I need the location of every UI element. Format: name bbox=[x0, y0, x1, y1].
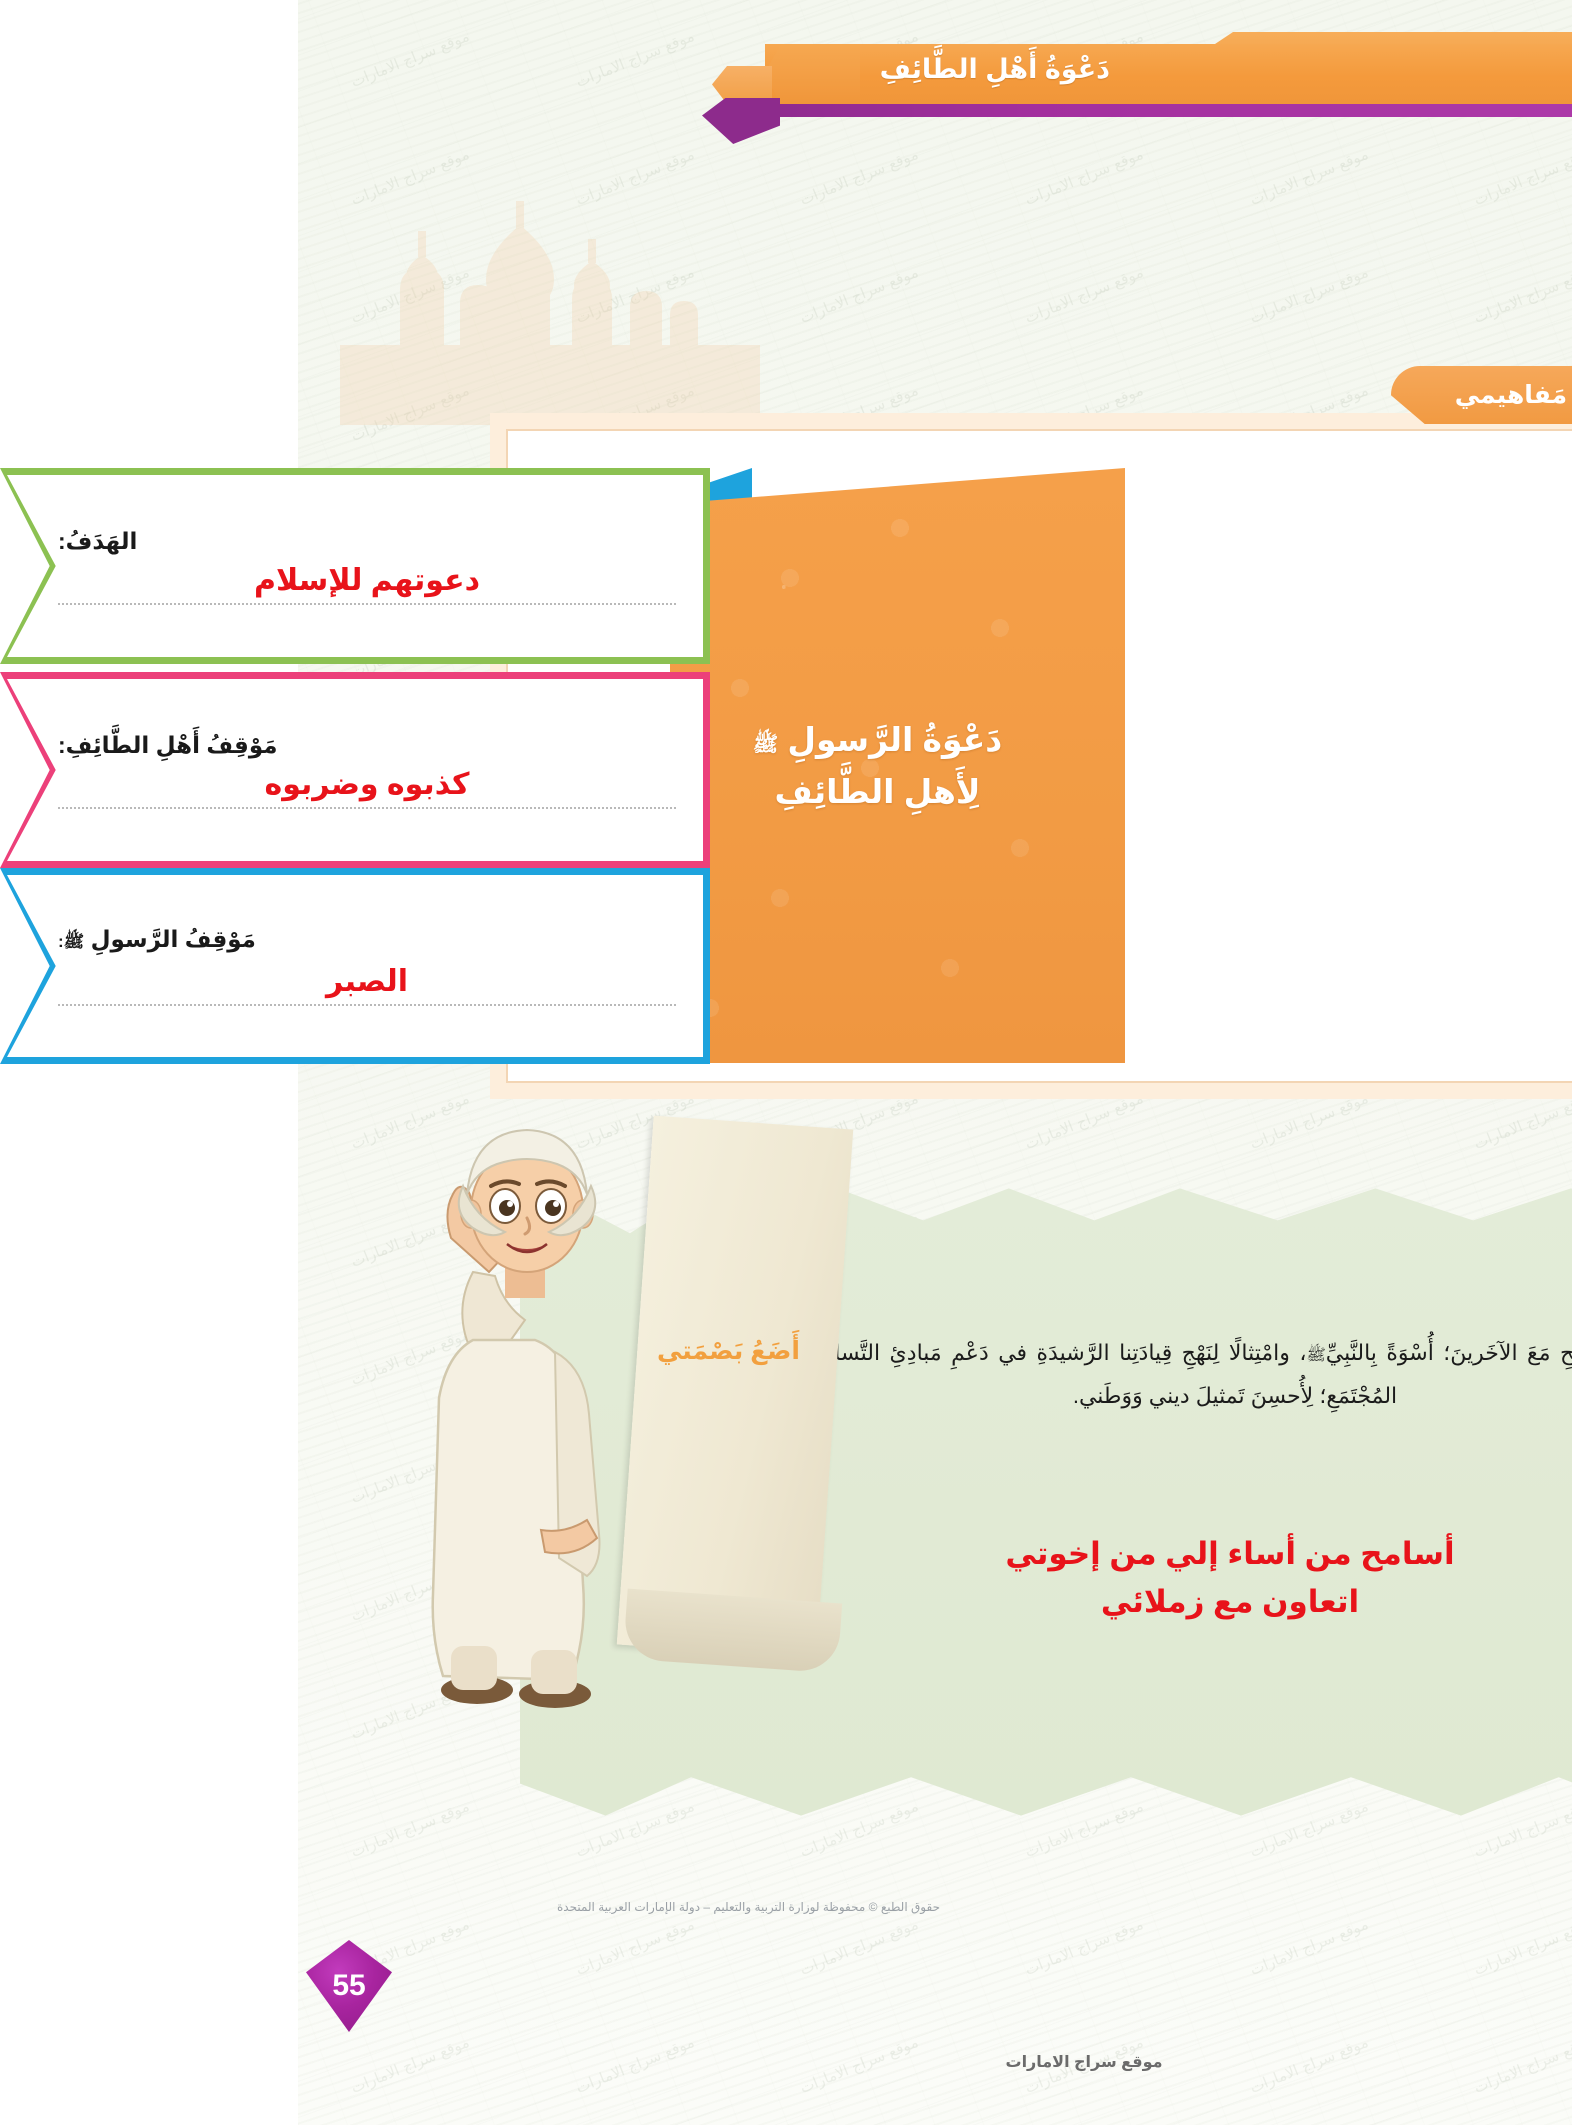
copyright-notice: حقوق الطبع © محفوظة لوزارة التربية والتع… bbox=[259, 1900, 642, 1914]
chevron-content: مَوْقِفُ الرَّسولِ ﷺ: الصبر bbox=[0, 875, 378, 1057]
watermark-text: موقع سراج الامارات bbox=[1173, 145, 1297, 209]
watermark-text: موقع سراج الامارات bbox=[50, 1797, 174, 1861]
banner-underline-shape bbox=[465, 104, 1572, 117]
sallallahu-alayhi-wasallam-icon: ﷺ bbox=[455, 733, 480, 756]
sallallahu-alayhi-wasallam-icon: ﷺ bbox=[1008, 1347, 1027, 1364]
reflection-paragraph-part1: أَتَحَلَّى بِالتَّسامُحِ مَعَ الآخَرينَ؛… bbox=[1028, 1340, 1402, 1365]
concept-row-prophet-stance[interactable]: مَوْقِفُ الرَّسولِ ﷺ: الصبر bbox=[0, 868, 412, 1064]
banner-tail-purple-shape bbox=[404, 98, 482, 144]
boy-character-illustration bbox=[57, 1090, 387, 1730]
concept-row-goal[interactable]: الهَدَفُ: دعوتهم للإسلام bbox=[0, 468, 412, 664]
chevron-content: الهَدَفُ: دعوتهم للإسلام bbox=[0, 475, 378, 657]
pyramid-title-line1: دَعْوَةُ الرَّسولِ bbox=[489, 721, 704, 758]
tab-organize-concepts[interactable]: أُنَظِّمُ مَفاهيمي bbox=[1093, 366, 1376, 424]
watermark-text: موقع سراج الامارات bbox=[1398, 145, 1522, 209]
chevron-answer-field[interactable]: دعوتهم للإسلام bbox=[0, 563, 378, 605]
reflection-paragraph-part2: ، وامْتِثالًا لِنَهْجِ قِيادَتِنا الرَّش… bbox=[472, 1340, 1099, 1408]
page-title: دَعْوَةُ أَهْلِ الطَّائِفِ bbox=[582, 54, 812, 85]
page-header-banner: دَعْوَةُ أَهْلِ الطَّائِفِ bbox=[0, 14, 1572, 139]
site-credit: موقع سراج الامارات bbox=[0, 2052, 1572, 2072]
reflection-paragraph: أَتَحَلَّى بِالتَّسامُحِ مَعَ الآخَرينَ؛… bbox=[472, 1332, 1402, 1418]
watermark-text: موقع سراج الامارات bbox=[724, 1915, 848, 1979]
watermark-text: موقع سراج الامارات bbox=[1398, 263, 1522, 327]
watermark-text: موقع سراج الامارات bbox=[1173, 263, 1297, 327]
pyramid-title-line2: لِأَهلِ الطَّائِفِ bbox=[476, 773, 682, 810]
watermark-text: موقع سراج الامارات bbox=[724, 263, 848, 327]
chevron-answer-field[interactable]: كذبوه وضربوه bbox=[0, 767, 378, 809]
pyramid-shape: دَعْوَةُ الرَّسولِ ﷺ لِأَهلِ الطَّائِفِ bbox=[372, 468, 827, 1063]
watermark-text: موقع سراج الامارات bbox=[949, 145, 1073, 209]
watermark-text: موقع سراج الامارات bbox=[275, 1915, 399, 1979]
watermark-text: موقع سراج الامارات bbox=[1173, 1915, 1297, 1979]
watermark-text: موقع سراج الامارات bbox=[500, 263, 624, 327]
watermark-text: موقع سراج الامارات bbox=[500, 145, 624, 209]
watermark-text: موقع سراج الامارات bbox=[724, 145, 848, 209]
chevron-content: مَوْقِفُ أَهْلِ الطَّائِفِ: كذبوه وضربوه bbox=[0, 679, 378, 861]
reflection-answer-line[interactable]: أسامح من أساء إلي من إخوتي bbox=[592, 1530, 1272, 1578]
concept-row-taif-people-stance[interactable]: مَوْقِفُ أَهْلِ الطَّائِفِ: كذبوه وضربوه bbox=[0, 672, 412, 868]
watermark-text: موقع سراج الامارات bbox=[500, 1915, 624, 1979]
pyramid-title: دَعْوَةُ الرَّسولِ ﷺ لِأَهلِ الطَّائِفِ bbox=[455, 714, 744, 816]
watermark-text: موقع سراج الامارات bbox=[1398, 1797, 1522, 1861]
watermark-text: موقع سراج الامارات bbox=[1173, 1797, 1297, 1861]
chevron-answer-field[interactable]: الصبر bbox=[0, 964, 378, 1006]
watermark-text: موقع سراج الامارات bbox=[1398, 1915, 1522, 1979]
banner-notch-shape bbox=[466, 44, 562, 104]
watermark-text: موقع سراج الامارات bbox=[949, 1915, 1073, 1979]
watermark-text: موقع سراج الامارات bbox=[949, 263, 1073, 327]
mosque-silhouette-icon bbox=[42, 195, 462, 425]
